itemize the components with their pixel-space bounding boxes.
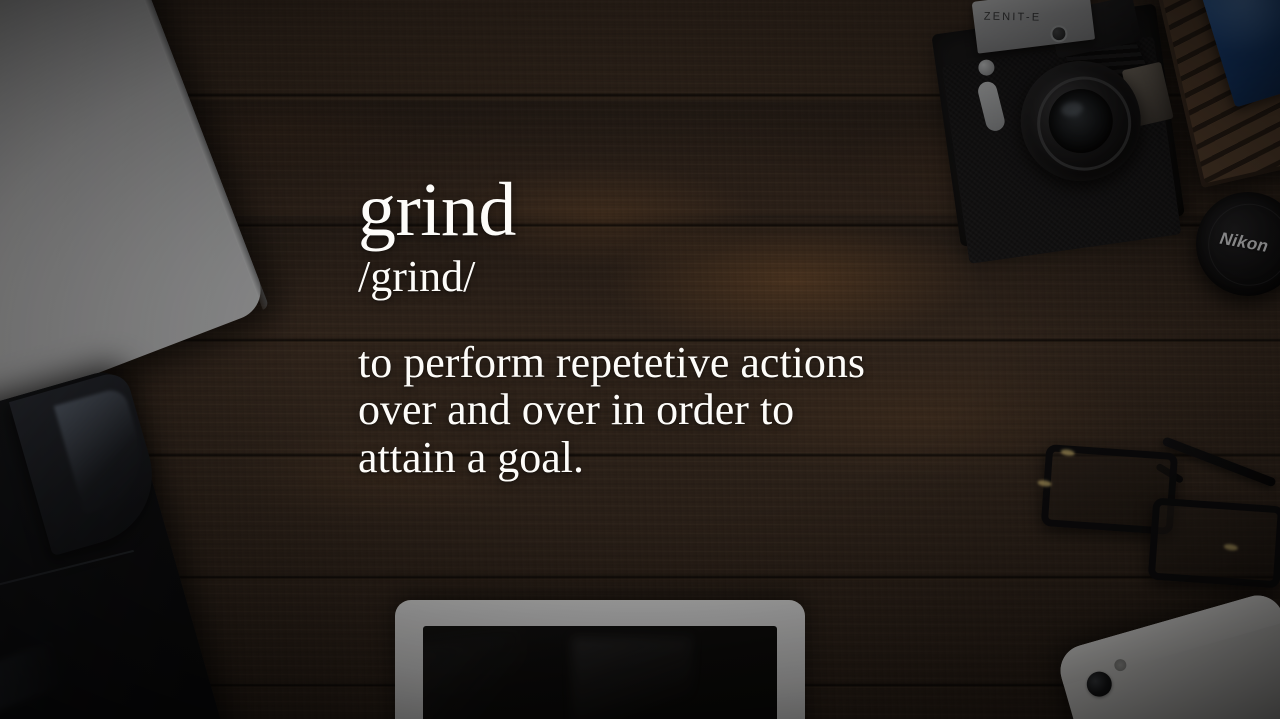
definition-text-block: grind /grind/ to perform repetetive acti… <box>358 176 978 481</box>
tablet-screen <box>423 626 777 719</box>
definition-line: to perform repetetive actions <box>358 339 978 387</box>
bag-highlight <box>0 626 103 719</box>
definition-line: attain a goal. <box>358 434 978 482</box>
definition-body: to perform repetetive actions over and o… <box>358 339 978 482</box>
tablet <box>395 600 805 719</box>
bag-seam <box>0 550 134 610</box>
camera-brand-label: ZENIT-E <box>984 11 1042 24</box>
tablet-screen-reflection <box>572 637 692 719</box>
definition-line: over and over in order to <box>358 386 978 434</box>
apple-logo-icon:  <box>1162 671 1205 719</box>
glasses-right-lens <box>1148 497 1280 588</box>
tablet-screen-reflection <box>423 629 536 719</box>
headword: grind <box>358 176 978 246</box>
wallpaper-canvas: VIA ZENIT-E VISA Nikon <box>0 0 1280 719</box>
pronunciation: /grind/ <box>358 252 978 303</box>
